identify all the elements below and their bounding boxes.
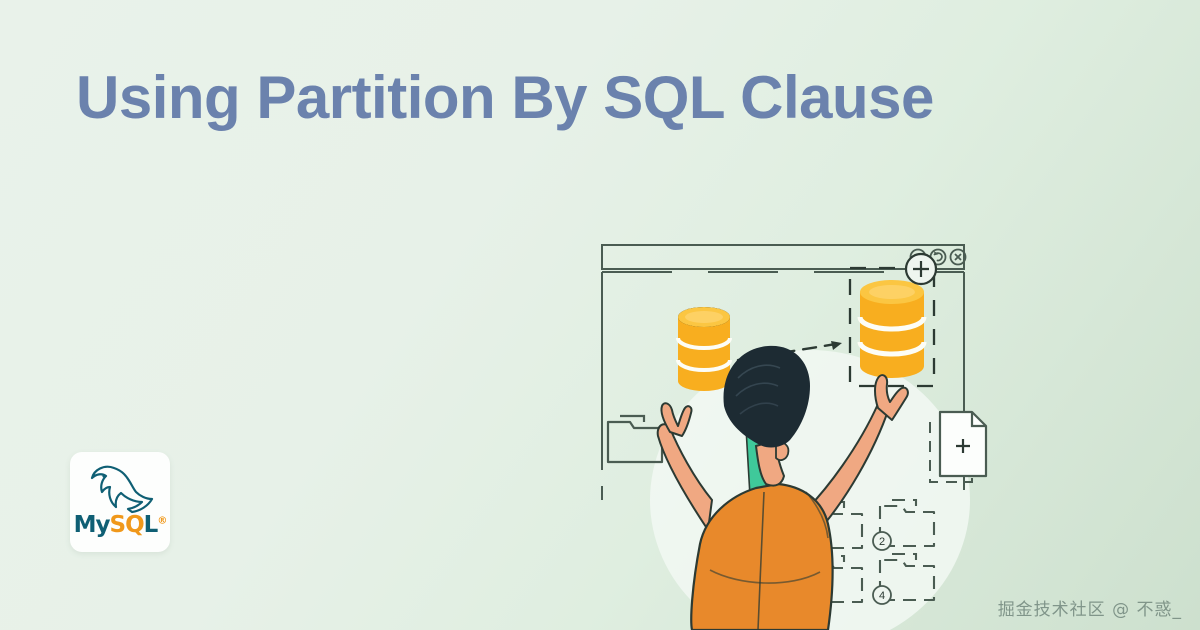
mysql-logo-card: MySQL®	[70, 452, 170, 552]
wordmark-l: L	[144, 512, 158, 538]
folder-icon[interactable]	[608, 416, 662, 462]
partition-folder-2-badge: 2	[879, 536, 885, 548]
wordmark-sq: SQ	[110, 512, 144, 538]
source-database[interactable]	[678, 307, 730, 391]
partition-folder-4-badge: 4	[879, 590, 885, 602]
wordmark-my: My	[74, 512, 110, 538]
wordmark-registered: ®	[157, 515, 166, 526]
mysql-wordmark: MySQL®	[70, 514, 170, 537]
page-title: Using Partition By SQL Clause	[76, 60, 934, 135]
database-partition-illustration: 1 2 3 4	[560, 200, 1200, 630]
watermark: 掘金技术社区 @ 不惑_	[998, 595, 1182, 620]
banner-root: Using Partition By SQL Clause MySQL®	[0, 0, 1200, 630]
target-database[interactable]	[860, 280, 924, 378]
add-database-button[interactable]	[906, 254, 936, 284]
